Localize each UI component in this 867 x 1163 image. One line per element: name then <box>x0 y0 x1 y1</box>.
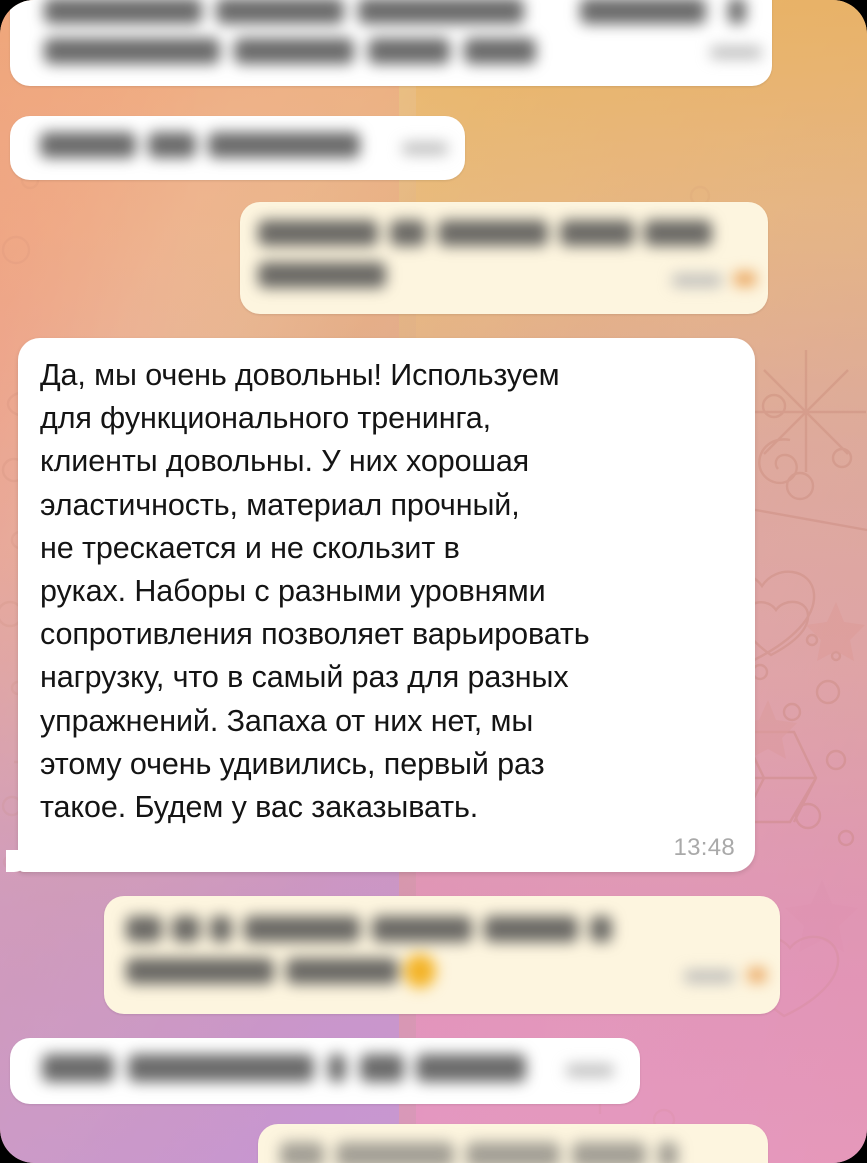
redacted-line <box>258 262 386 288</box>
message-bubble-redacted-3[interactable] <box>240 202 768 314</box>
redacted-timestamp <box>672 274 722 287</box>
redacted-line <box>368 38 450 64</box>
redacted-line <box>728 0 746 24</box>
emoji-icon <box>404 954 436 988</box>
redacted-line <box>244 916 360 942</box>
redacted-timestamp <box>684 970 734 983</box>
redacted-content-1 <box>10 0 772 86</box>
redacted-line <box>358 0 524 24</box>
redacted-timestamp <box>402 142 448 155</box>
message-text: Да, мы очень довольны! Используем для фу… <box>40 354 740 829</box>
redacted-line <box>210 916 232 942</box>
redacted-line <box>360 1054 404 1082</box>
redacted-line <box>464 38 536 64</box>
redacted-content-7 <box>258 1124 768 1163</box>
redacted-line <box>438 220 548 246</box>
redacted-line <box>484 916 578 942</box>
redacted-line <box>44 0 202 24</box>
redacted-line <box>590 916 612 942</box>
redacted-line <box>40 132 136 158</box>
redacted-line <box>258 220 378 246</box>
redacted-line <box>336 1142 454 1163</box>
read-check-icon <box>748 968 766 982</box>
redacted-line <box>148 132 196 158</box>
redacted-content-5 <box>104 896 780 1014</box>
redacted-line <box>572 1142 646 1163</box>
message-bubble-redacted-5[interactable] <box>104 896 780 1014</box>
redacted-line <box>172 916 200 942</box>
redacted-line <box>126 958 274 984</box>
redacted-content-3 <box>240 202 768 314</box>
redacted-line <box>128 1054 314 1082</box>
chat-screenshot: Да, мы очень довольны! Используем для фу… <box>0 0 867 1163</box>
redacted-line <box>580 0 706 24</box>
message-bubble-main[interactable]: Да, мы очень довольны! Используем для фу… <box>18 338 755 872</box>
redacted-line <box>286 958 398 984</box>
message-bubble-redacted-2[interactable] <box>10 116 465 180</box>
message-bubble-redacted-1[interactable] <box>10 0 772 86</box>
redacted-timestamp <box>710 46 762 59</box>
redacted-line <box>216 0 344 24</box>
redacted-line <box>208 132 360 158</box>
message-timestamp: 13:48 <box>673 834 735 862</box>
redacted-timestamp <box>566 1064 614 1077</box>
redacted-content-2 <box>10 116 465 180</box>
redacted-line <box>466 1142 560 1163</box>
redacted-line <box>390 220 426 246</box>
redacted-line <box>44 38 220 64</box>
redacted-line <box>372 916 472 942</box>
redacted-line <box>644 220 712 246</box>
redacted-line <box>328 1054 346 1082</box>
redacted-line <box>416 1054 526 1082</box>
redacted-line <box>234 38 354 64</box>
read-check-icon <box>734 272 756 286</box>
redacted-line <box>42 1054 114 1082</box>
message-bubble-redacted-7[interactable] <box>258 1124 768 1163</box>
redacted-line <box>560 220 634 246</box>
message-bubble-redacted-6[interactable] <box>10 1038 640 1104</box>
redacted-line <box>126 916 162 942</box>
redacted-line <box>280 1142 324 1163</box>
redacted-content-6 <box>10 1038 640 1104</box>
redacted-line <box>658 1142 678 1163</box>
